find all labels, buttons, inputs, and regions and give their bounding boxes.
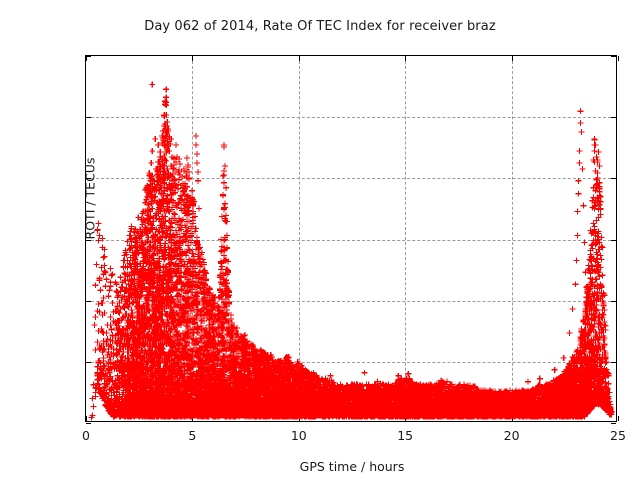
x-tick-label: 15 xyxy=(397,428,413,443)
y-tick-mark xyxy=(611,362,616,363)
scatter-points-layer xyxy=(86,56,616,421)
x-tick-mark xyxy=(192,56,193,61)
gridline-vertical xyxy=(512,56,513,421)
gridline-horizontal xyxy=(86,178,616,179)
x-tick-mark xyxy=(512,56,513,61)
chart-title: Day 062 of 2014, Rate Of TEC Index for r… xyxy=(0,19,640,34)
x-tick-label: 5 xyxy=(188,428,196,443)
x-tick-mark xyxy=(299,416,300,421)
x-tick-mark xyxy=(405,416,406,421)
gridline-horizontal xyxy=(86,117,616,118)
x-tick-mark xyxy=(618,416,619,421)
x-axis-title: GPS time / hours xyxy=(86,459,618,474)
y-tick-mark xyxy=(86,362,91,363)
x-tick-mark xyxy=(299,56,300,61)
x-tick-mark xyxy=(192,416,193,421)
x-tick-label: 25 xyxy=(610,428,626,443)
y-tick-mark xyxy=(611,240,616,241)
gridline-vertical xyxy=(405,56,406,421)
x-tick-mark xyxy=(86,56,87,61)
gridline-horizontal xyxy=(86,362,616,363)
y-tick-mark xyxy=(611,117,616,118)
x-tick-mark xyxy=(86,416,87,421)
y-axis-title: ROTI / TECUs xyxy=(83,129,98,269)
y-tick-mark xyxy=(611,56,616,57)
y-tick-mark xyxy=(611,178,616,179)
x-tick-mark xyxy=(405,56,406,61)
y-tick-mark xyxy=(86,423,91,424)
x-tick-label: 20 xyxy=(504,428,520,443)
gridline-vertical xyxy=(192,56,193,421)
x-tick-label: 0 xyxy=(82,428,90,443)
x-tick-label: 10 xyxy=(291,428,307,443)
x-tick-mark xyxy=(512,416,513,421)
y-tick-mark xyxy=(86,117,91,118)
y-tick-mark xyxy=(86,301,91,302)
y-tick-mark xyxy=(611,301,616,302)
x-tick-mark xyxy=(618,56,619,61)
chart-root: Day 062 of 2014, Rate Of TEC Index for r… xyxy=(0,0,640,480)
y-tick-mark xyxy=(611,423,616,424)
gridline-horizontal xyxy=(86,301,616,302)
gridline-vertical xyxy=(299,56,300,421)
plot-area: 00.10.20.30.40.50.6 0510152025 ROTI / TE… xyxy=(85,55,617,422)
gridline-horizontal xyxy=(86,240,616,241)
